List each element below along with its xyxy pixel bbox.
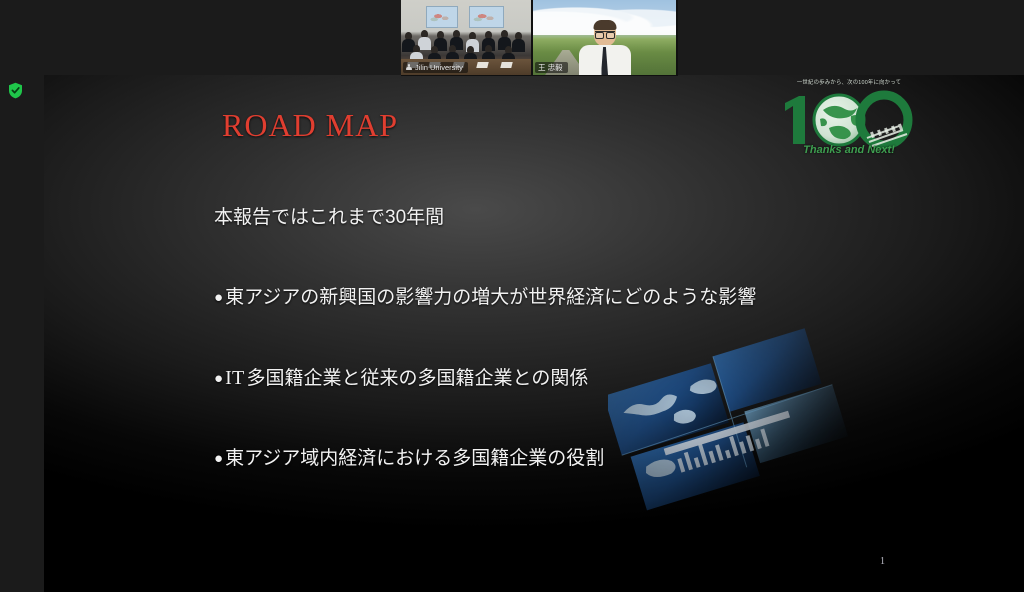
video-thumbnail-strip: Jilin University 王 忠毅: [401, 0, 678, 76]
bullet-dot-icon: ●: [214, 451, 223, 466]
slide-bullet-1: ● 東アジアの新興国の影響力の増大が世界経済にどのような影響: [214, 285, 964, 312]
zoom-meeting-window: Jilin University 王 忠毅: [0, 0, 1024, 592]
slide-bullet-2: ● IT 多国籍企業と従来の多国籍企業との関係: [214, 364, 964, 393]
tile-name-badge: 王 忠毅: [535, 62, 568, 73]
video-tile-jilin-university[interactable]: Jilin University: [401, 0, 531, 75]
logo-top-text: 一世紀の歩みから、次の100年に向かって: [781, 78, 917, 86]
wall-map-left: [426, 6, 458, 28]
anniversary-100-logo: 一世紀の歩みから、次の100年に向かって: [779, 78, 919, 173]
wall-map-right: [469, 6, 504, 28]
bullet-dot-icon: ●: [214, 371, 223, 386]
green-shield-check-icon[interactable]: [8, 82, 23, 99]
slide-body: 本報告ではこれまで30年間 ● 東アジアの新興国の影響力の増大が世界経済にどのよ…: [214, 205, 964, 525]
speaker-figure: [579, 21, 631, 75]
slide-intro-line: 本報告ではこれまで30年間: [214, 205, 964, 232]
tile-participant-name: Jilin University: [415, 63, 463, 72]
video-tile-active-speaker[interactable]: 王 忠毅: [533, 0, 676, 75]
students-group: [401, 28, 531, 62]
page-title: ROAD MAP: [222, 107, 398, 144]
participant-icon: [406, 64, 412, 71]
slide-page-number: 1: [880, 556, 885, 567]
slide-bullet-2-text: 多国籍企業と従来の多国籍企業との関係: [247, 366, 589, 393]
shared-screen-slide: 一世紀の歩みから、次の100年に向かって: [44, 75, 1024, 592]
tile-participant-name: 王 忠毅: [538, 63, 563, 72]
slide-bullet-1-text: 東アジアの新興国の影響力の増大が世界経済にどのような影響: [225, 285, 756, 312]
slide-bullet-3: ● 東アジア域内経済における多国籍企業の役割: [214, 446, 964, 473]
slide-bullet-3-text: 東アジア域内経済における多国籍企業の役割: [225, 446, 604, 473]
tile-name-badge: Jilin University: [403, 62, 468, 73]
bullet-dot-icon: ●: [214, 290, 223, 305]
slide-bullet-2-latin: IT: [225, 364, 244, 392]
logo-tagline: Thanks and Next!: [779, 144, 919, 156]
